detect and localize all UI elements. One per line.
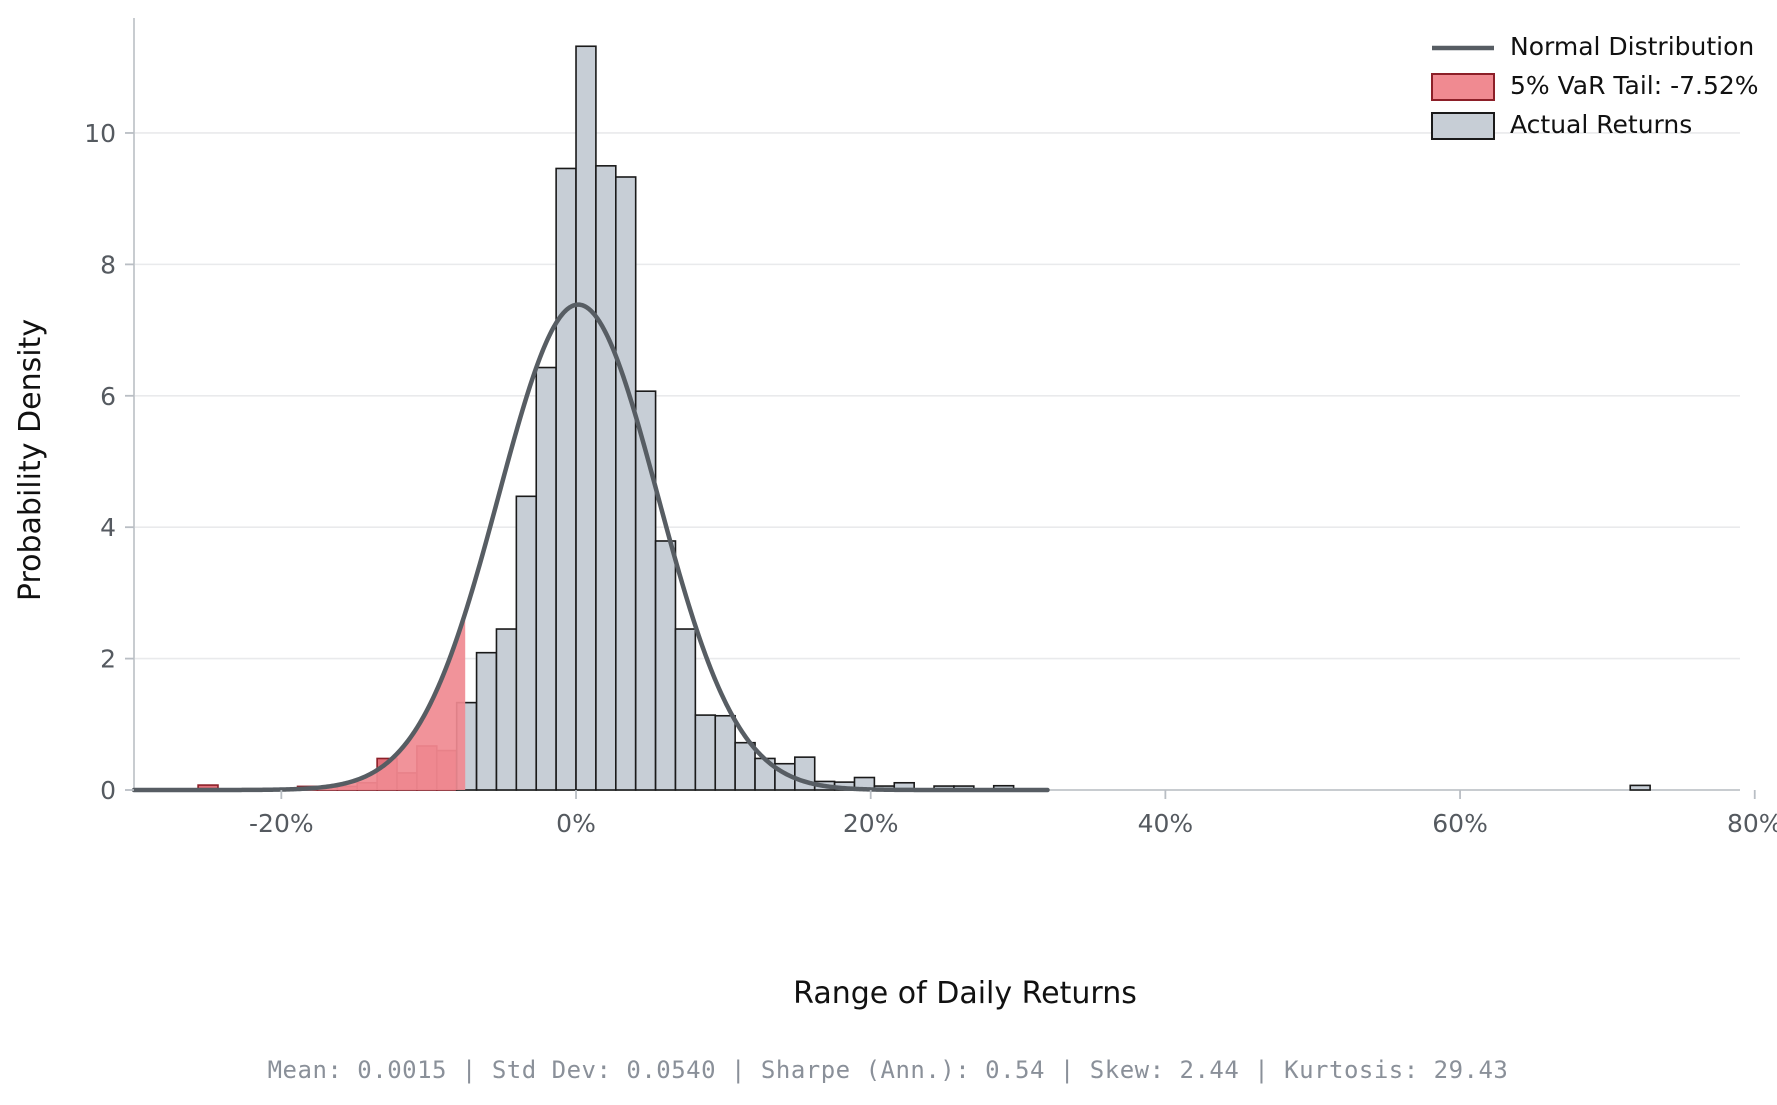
legend-item-label: Normal Distribution [1510, 32, 1754, 61]
y-tick-label: 2 [100, 645, 116, 674]
histogram-bar [516, 496, 536, 790]
y-tick-label: 6 [100, 382, 116, 411]
histogram-bar [536, 368, 556, 790]
histogram-bar [556, 168, 576, 790]
y-axis-title: Probability Density [13, 319, 48, 601]
x-tick-label: 80% [1727, 809, 1777, 838]
x-axis-ticks: -20%0%20%40%60%80% [249, 790, 1777, 838]
x-tick-label: 0% [556, 809, 596, 838]
histogram-bar [496, 629, 516, 790]
x-tick-label: 40% [1138, 809, 1194, 838]
y-axis-ticks: 0246810 [84, 119, 134, 805]
chart-legend: Normal Distribution5% VaR Tail: -7.52%Ac… [1432, 32, 1759, 139]
legend-swatch-patch [1432, 74, 1494, 100]
y-tick-label: 4 [100, 513, 116, 542]
legend-item-label: Actual Returns [1510, 110, 1692, 139]
gridlines-layer [134, 133, 1740, 659]
histogram-bar [1630, 785, 1650, 790]
footer-statistics: Mean: 0.0015 | Std Dev: 0.0540 | Sharpe … [268, 1056, 1509, 1084]
y-tick-label: 10 [84, 119, 116, 148]
histogram-bar [675, 629, 695, 790]
histogram-bar [477, 653, 497, 790]
var-tail-shading [178, 613, 465, 790]
plot-spines [134, 18, 1740, 790]
legend-item-label: 5% VaR Tail: -7.52% [1510, 71, 1759, 100]
histogram-bar [656, 541, 676, 790]
x-tick-label: 60% [1432, 809, 1488, 838]
x-axis-title: Range of Daily Returns [793, 976, 1137, 1011]
returns-distribution-chart: 0246810 -20%0%20%40%60%80% Probability D… [0, 0, 1777, 1105]
histogram-bar [576, 46, 596, 790]
histogram-bars [198, 46, 1650, 790]
histogram-bar [695, 715, 715, 790]
histogram-bar [596, 166, 616, 790]
x-tick-label: -20% [249, 809, 314, 838]
histogram-bar [715, 716, 735, 790]
legend-swatch-patch [1432, 113, 1494, 139]
var-tail-region [178, 613, 465, 790]
y-tick-label: 8 [100, 250, 116, 279]
chart-page: 0246810 -20%0%20%40%60%80% Probability D… [0, 0, 1777, 1105]
histogram-bar [735, 743, 755, 790]
histogram-bar [616, 177, 636, 790]
x-tick-label: 20% [843, 809, 899, 838]
y-tick-label: 0 [100, 776, 116, 805]
